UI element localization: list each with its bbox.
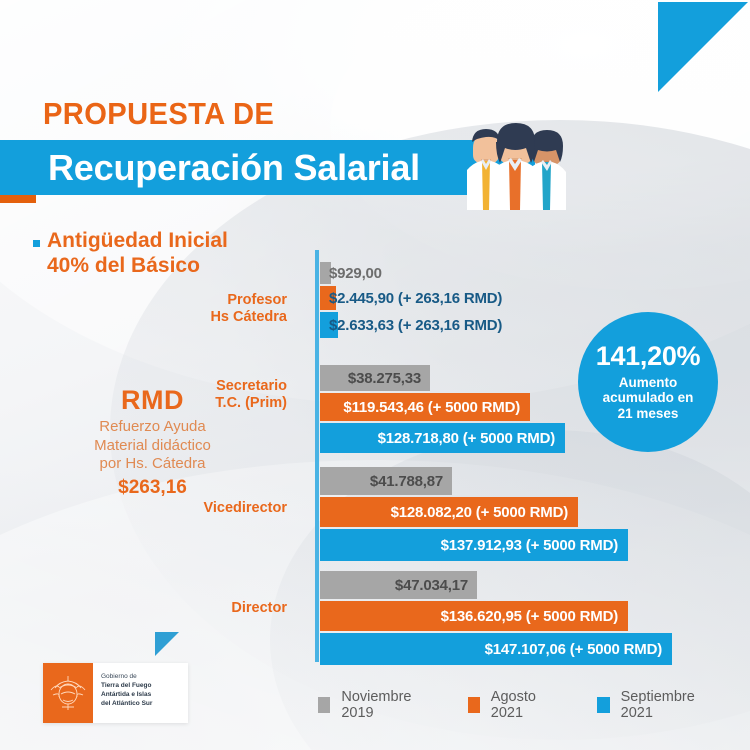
chart-bar: $136.620,95 (+ 5000 RMD): [320, 601, 628, 631]
government-logo: Gobierno de Tierra del Fuego Antártida e…: [43, 663, 188, 723]
chart-bar-value-label: $119.543,46 (+ 5000 RMD): [343, 399, 520, 416]
chart-bar-value-label: $137.912,93 (+ 5000 RMD): [441, 537, 618, 554]
logo-emblem: [43, 663, 93, 723]
logo-text-line-1: Gobierno de: [101, 673, 152, 682]
salary-bar-chart: ProfesorHs Cátedra$929,00$2.445,90 (+ 26…: [0, 248, 750, 668]
title-band-accent: [0, 195, 36, 203]
chart-bar: $2.633,63 (+ 263,16 RMD): [320, 312, 338, 338]
logo-text-line-3: Antártida e Islas: [101, 691, 151, 698]
bar-group-label-line: Vicedirector: [87, 500, 287, 517]
chart-bar: $2.445,90 (+ 263,16 RMD): [320, 286, 336, 310]
chart-bar-value-label: $41.788,87: [370, 473, 443, 490]
legend-item: Agosto 2021: [468, 689, 554, 721]
chart-bar-value-label: $47.034,17: [395, 577, 468, 594]
chart-bar-value-label: $929,00: [329, 265, 382, 282]
chart-bar: $128.718,80 (+ 5000 RMD): [320, 423, 565, 453]
legend-label: Septiembre 2021: [621, 689, 706, 721]
legend-swatch: [597, 697, 609, 713]
logo-text: Gobierno de Tierra del Fuego Antártida e…: [101, 673, 152, 709]
bar-group-label-line: Profesor: [87, 292, 287, 309]
legend-label: Agosto 2021: [491, 689, 553, 721]
legend-label: Noviembre 2019: [341, 689, 423, 721]
chart-bar-value-label: $128.718,80 (+ 5000 RMD): [378, 430, 555, 447]
bar-group-label: Vicedirector: [87, 500, 287, 517]
bar-group-label: Director: [87, 600, 287, 617]
chart-bar: $47.034,17: [320, 571, 477, 599]
bar-group-label-line: Secretario: [87, 378, 287, 395]
chart-legend: Noviembre 2019Agosto 2021Septiembre 2021: [318, 689, 750, 721]
chart-bar: $929,00: [320, 262, 331, 284]
chart-bar-value-label: $128.082,20 (+ 5000 RMD): [391, 504, 568, 521]
logo-text-line-2: Tierra del Fuego: [101, 682, 151, 689]
chart-axis-line: [315, 250, 319, 662]
chart-bar-value-label: $2.445,90 (+ 263,16 RMD): [329, 290, 502, 307]
chart-bar: $128.082,20 (+ 5000 RMD): [320, 497, 578, 527]
legend-item: Noviembre 2019: [318, 689, 424, 721]
logo-text-line-4: del Atlántico Sur: [101, 700, 152, 707]
page-kicker: PROPUESTA DE: [43, 96, 274, 132]
legend-swatch: [318, 697, 330, 713]
bar-group-label-line: Hs Cátedra: [87, 309, 287, 326]
chart-bar-value-label: $136.620,95 (+ 5000 RMD): [441, 608, 618, 625]
doctors-illustration: [455, 112, 577, 210]
chart-bar: $119.543,46 (+ 5000 RMD): [320, 393, 530, 421]
bar-group-label: SecretarioT.C. (Prim): [87, 378, 287, 413]
bar-group-label: ProfesorHs Cátedra: [87, 292, 287, 327]
chart-bar: $38.275,33: [320, 365, 430, 391]
chart-bar: $137.912,93 (+ 5000 RMD): [320, 529, 628, 561]
chart-bar-value-label: $147.107,06 (+ 5000 RMD): [485, 641, 662, 658]
legend-item: Septiembre 2021: [597, 689, 706, 721]
infographic-poster: PROPUESTA DE Recuperación Salarial: [0, 0, 750, 750]
chart-bar: $147.107,06 (+ 5000 RMD): [320, 633, 672, 665]
chart-bar-value-label: $2.633,63 (+ 263,16 RMD): [329, 317, 502, 334]
bar-group-label-line: T.C. (Prim): [87, 395, 287, 412]
bullet-square-icon: [33, 240, 40, 247]
legend-swatch: [468, 697, 480, 713]
chart-bar-value-label: $38.275,33: [348, 370, 421, 387]
chart-bar: $41.788,87: [320, 467, 452, 495]
logo-triangle-decoration: [155, 632, 179, 656]
corner-triangle-decoration: [658, 2, 748, 92]
bar-group-label-line: Director: [87, 600, 287, 617]
